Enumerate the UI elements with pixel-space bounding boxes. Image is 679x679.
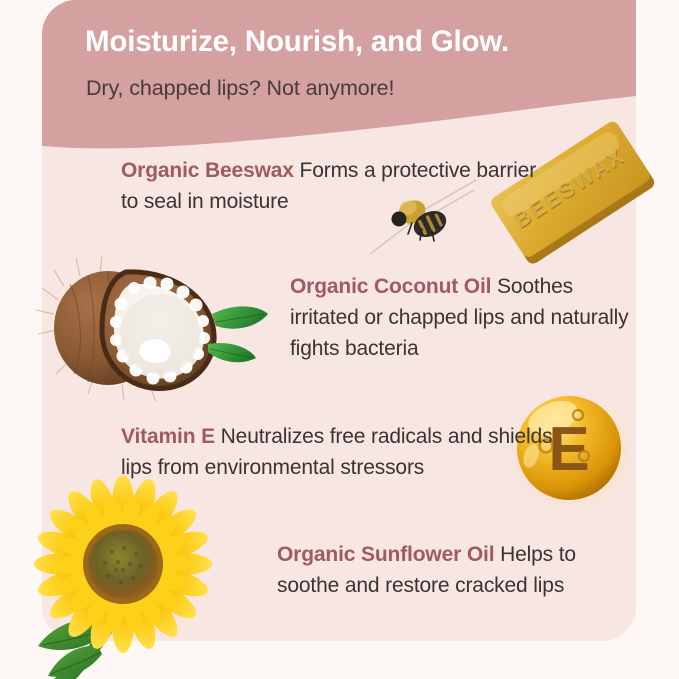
infographic-root: Organic Beeswax Forms a protective barri… — [0, 0, 679, 679]
benefit-vitamin-e-lead: Vitamin E — [121, 425, 215, 448]
bee-icon — [362, 176, 480, 262]
benefit-coconut-lead: Organic Coconut Oil — [290, 275, 491, 298]
sunflower-icon — [20, 490, 235, 679]
benefit-coconut: Organic Coconut Oil Soothes irritated or… — [290, 271, 636, 364]
benefit-vitamin-e: Vitamin E Neutralizes free radicals and … — [121, 421, 561, 483]
coconut-icon — [30, 248, 270, 406]
benefit-sunflower: Organic Sunflower Oil Helps to soothe an… — [277, 539, 636, 601]
benefit-sunflower-lead: Organic Sunflower Oil — [277, 543, 494, 566]
benefit-beeswax-lead: Organic Beeswax — [121, 159, 294, 182]
